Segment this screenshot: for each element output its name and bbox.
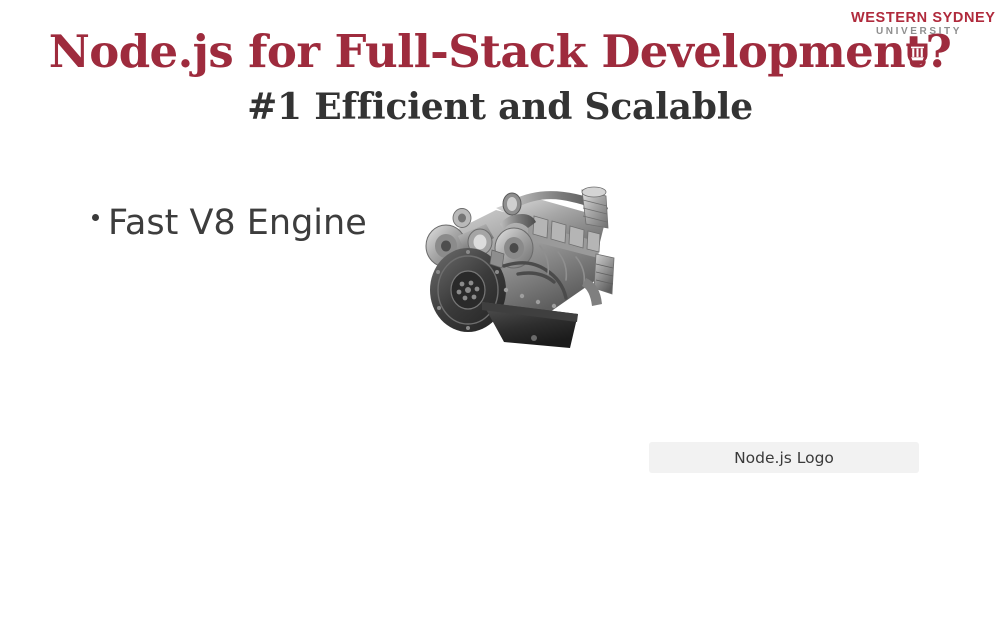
university-logo: WESTERN SYDNEY UNIVERSITY bbox=[851, 11, 987, 41]
page-title: Node.js for Full-Stack Development? bbox=[0, 25, 1000, 78]
bullet-list: Fast V8 Engine bbox=[92, 202, 367, 244]
university-logo-line2: UNIVERSITY bbox=[851, 27, 987, 37]
node-logo-placeholder: Node.js Logo bbox=[649, 442, 919, 473]
shield-crest-icon bbox=[906, 42, 929, 67]
list-item: Fast V8 Engine bbox=[92, 202, 367, 244]
v8-diesel-engine-photo bbox=[400, 162, 624, 352]
presentation-slide: WESTERN SYDNEY UNIVERSITY Node.js for Fu… bbox=[0, 0, 1000, 624]
bullet-dot-icon bbox=[92, 214, 99, 221]
university-logo-line1: WESTERN SYDNEY bbox=[851, 11, 987, 26]
page-subtitle: #1 Efficient and Scalable bbox=[0, 86, 1000, 128]
bullet-item-label: Fast V8 Engine bbox=[108, 202, 367, 244]
node-logo-placeholder-label: Node.js Logo bbox=[734, 449, 834, 467]
